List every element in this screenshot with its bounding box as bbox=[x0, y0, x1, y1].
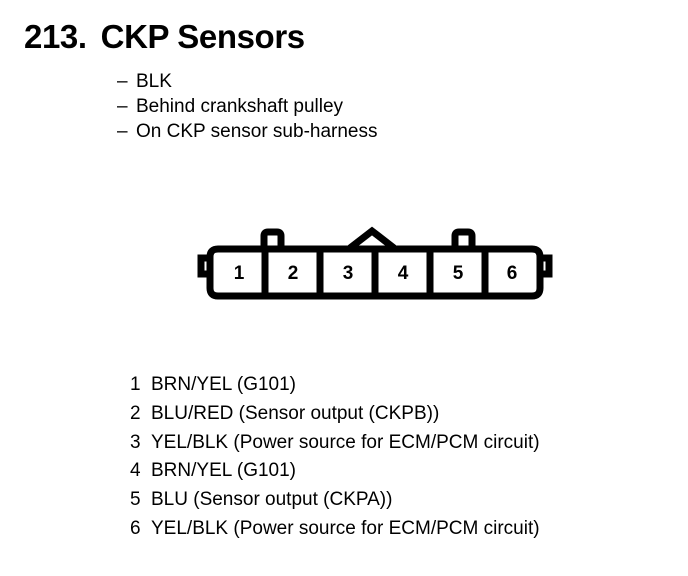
cavity-number-2: 2 bbox=[288, 263, 299, 284]
pin-description: BRN/YEL (G101) bbox=[151, 460, 296, 481]
cavity-number-5: 5 bbox=[453, 263, 464, 284]
pin-description: BLU (Sensor output (CKPA)) bbox=[151, 489, 392, 510]
page-title: 213.CKP Sensors bbox=[24, 18, 305, 56]
note-item: –On CKP sensor sub-harness bbox=[117, 119, 378, 144]
pin-number: 2 bbox=[130, 400, 151, 429]
page-title-text: CKP Sensors bbox=[101, 18, 305, 55]
pin-description: YEL/BLK (Power source for ECM/PCM circui… bbox=[151, 432, 540, 453]
pin-legend-row: 4BRN/YEL (G101) bbox=[130, 457, 540, 486]
pin-legend-row: 5BLU (Sensor output (CKPA)) bbox=[130, 486, 540, 515]
note-dash-marker: – bbox=[117, 69, 136, 94]
note-item-label: Behind crankshaft pulley bbox=[136, 96, 343, 117]
pin-number: 1 bbox=[130, 371, 151, 400]
cavity-number-3: 3 bbox=[343, 263, 354, 284]
note-item: –BLK bbox=[117, 69, 378, 94]
note-item: –Behind crankshaft pulley bbox=[117, 94, 378, 119]
cavity-number-4: 4 bbox=[398, 263, 409, 284]
pin-description: BRN/YEL (G101) bbox=[151, 374, 296, 395]
note-dash-marker: – bbox=[117, 119, 136, 144]
note-item-label: On CKP sensor sub-harness bbox=[136, 121, 378, 142]
pin-number: 3 bbox=[130, 429, 151, 458]
pin-number: 5 bbox=[130, 486, 151, 515]
cavity-number-6: 6 bbox=[507, 263, 518, 284]
center-keying-peak-icon bbox=[350, 231, 394, 248]
pin-legend-row: 2BLU/RED (Sensor output (CKPB)) bbox=[130, 400, 540, 429]
pin-legend-list: 1BRN/YEL (G101) 2BLU/RED (Sensor output … bbox=[130, 371, 540, 544]
cavity-number-1: 1 bbox=[234, 263, 245, 284]
pin-number: 4 bbox=[130, 457, 151, 486]
pin-number: 6 bbox=[130, 515, 151, 544]
page-title-number: 213. bbox=[24, 18, 87, 55]
note-item-label: BLK bbox=[136, 71, 172, 92]
pin-description: YEL/BLK (Power source for ECM/PCM circui… bbox=[151, 518, 540, 539]
notes-list: –BLK –Behind crankshaft pulley –On CKP s… bbox=[117, 69, 378, 144]
pin-legend-row: 1BRN/YEL (G101) bbox=[130, 371, 540, 400]
pin-legend-row: 6YEL/BLK (Power source for ECM/PCM circu… bbox=[130, 515, 540, 544]
connector-diagram: 1 2 3 4 5 6 bbox=[190, 218, 560, 313]
pin-legend-row: 3YEL/BLK (Power source for ECM/PCM circu… bbox=[130, 429, 540, 458]
pin-description: BLU/RED (Sensor output (CKPB)) bbox=[151, 403, 439, 424]
note-dash-marker: – bbox=[117, 94, 136, 119]
